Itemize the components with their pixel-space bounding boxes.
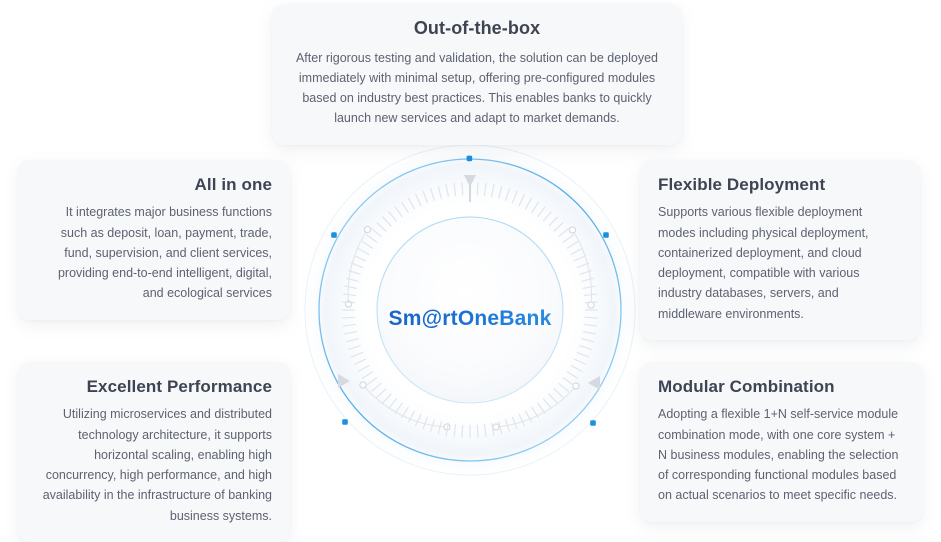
ring-dot-bottom-left: [342, 419, 348, 425]
card-title-modular-combination: Modular Combination: [658, 376, 905, 397]
card-title-all-in-one: All in one: [36, 174, 272, 195]
card-body-all-in-one: It integrates major business functions s…: [36, 202, 272, 303]
card-body-out-of-the-box: After rigorous testing and validation, t…: [290, 48, 664, 129]
card-body-modular-combination: Adopting a flexible 1+N self-service mod…: [658, 404, 905, 505]
ring-dot-left: [331, 232, 337, 238]
feature-card-all-in-one[interactable]: All in one It integrates major business …: [18, 160, 290, 320]
ring-dot-bottom-right: [590, 420, 596, 426]
feature-card-modular-combination[interactable]: Modular Combination Adopting a flexible …: [640, 362, 923, 522]
ring-dot-top: [467, 156, 473, 162]
card-body-flexible-deployment: Supports various flexible deployment mod…: [658, 202, 902, 324]
ring-dot-right: [603, 232, 609, 238]
feature-card-out-of-the-box[interactable]: Out-of-the-box After rigorous testing an…: [272, 4, 682, 145]
card-body-excellent-performance: Utilizing microservices and distributed …: [36, 404, 272, 526]
card-title-excellent-performance: Excellent Performance: [36, 376, 272, 397]
card-title-flexible-deployment: Flexible Deployment: [658, 174, 902, 195]
core-disc: [377, 217, 563, 403]
brand-circle-graphic: [300, 140, 640, 480]
feature-card-flexible-deployment[interactable]: Flexible Deployment Supports various fle…: [640, 160, 920, 340]
feature-card-excellent-performance[interactable]: Excellent Performance Utilizing microser…: [18, 362, 290, 542]
card-title-out-of-the-box: Out-of-the-box: [290, 17, 664, 40]
